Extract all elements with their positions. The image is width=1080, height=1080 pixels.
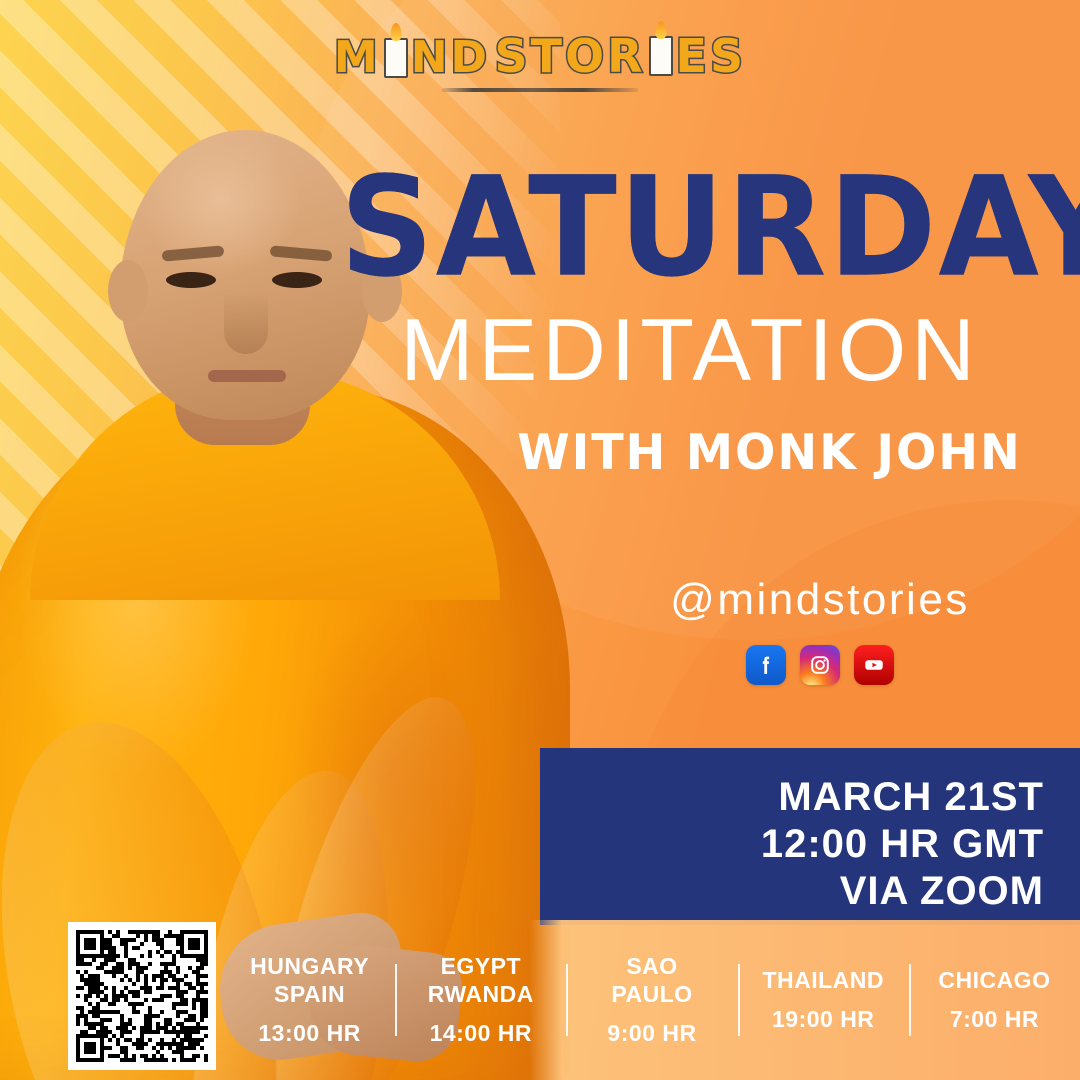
timezone-item: EGYPT RWANDA14:00 HR: [395, 953, 566, 1046]
headline-block: SATURDAY MEDITATION WITH MONK JOHN: [340, 168, 1040, 481]
logo-text-stor: STOR: [495, 34, 646, 78]
monk-eye: [166, 272, 216, 288]
timezone-city: HUNGARY SPAIN: [230, 953, 389, 1007]
event-platform: VIA ZOOM: [540, 868, 1044, 915]
social-handle: @mindstories: [620, 575, 1020, 625]
candle-icon: [384, 38, 408, 78]
timezone-time: 13:00 HR: [230, 1020, 389, 1047]
candle-icon: [649, 36, 673, 76]
title-meditation: MEDITATION: [340, 306, 1040, 394]
monk-ear: [108, 260, 148, 322]
logo-underline-stroke: [442, 88, 638, 92]
presenter-label: WITH MONK JOHN: [351, 424, 1030, 481]
brand-logo: M ND STOR ES: [0, 34, 1080, 92]
logo-line-stories: STOR ES: [495, 34, 747, 78]
timezone-item: HUNGARY SPAIN13:00 HR: [224, 953, 395, 1046]
timezone-city: CHICAGO: [915, 967, 1074, 994]
social-icon-row: [620, 645, 1020, 685]
timezone-time: 19:00 HR: [744, 1006, 903, 1033]
timezone-time: 7:00 HR: [915, 1006, 1074, 1033]
timezone-city: EGYPT RWANDA: [401, 953, 560, 1007]
event-details-panel: MARCH 21ST 12:00 HR GMT VIA ZOOM: [540, 748, 1080, 925]
event-time: 12:00 HR GMT: [540, 821, 1044, 868]
timezone-time: 9:00 HR: [572, 1020, 731, 1047]
monk-mouth: [208, 370, 286, 382]
poster-canvas: M ND STOR ES SATURDAY MEDITATION WITH MO…: [0, 0, 1080, 1080]
timezone-time: 14:00 HR: [401, 1020, 560, 1047]
logo-text-nd: ND: [411, 37, 490, 79]
timezone-item: CHICAGO7:00 HR: [909, 967, 1080, 1033]
logo-text-es: ES: [676, 34, 747, 78]
timezone-item: THAILAND19:00 HR: [738, 967, 909, 1033]
timezone-city: THAILAND: [744, 967, 903, 994]
instagram-icon[interactable]: [800, 645, 840, 685]
facebook-icon[interactable]: [746, 645, 786, 685]
timezone-city: SAO PAULO: [572, 953, 731, 1007]
logo-line-mind: M ND: [334, 37, 490, 79]
event-date: MARCH 21ST: [540, 774, 1044, 821]
youtube-icon[interactable]: [854, 645, 894, 685]
social-block: @mindstories: [620, 575, 1020, 685]
title-saturday: SATURDAY: [340, 164, 1040, 291]
timezone-item: SAO PAULO9:00 HR: [566, 953, 737, 1046]
logo-text-m: M: [334, 37, 381, 79]
monk-eye: [272, 272, 322, 288]
monk-nose: [224, 292, 268, 354]
timezone-bar: HUNGARY SPAIN13:00 HREGYPT RWANDA14:00 H…: [224, 920, 1080, 1080]
